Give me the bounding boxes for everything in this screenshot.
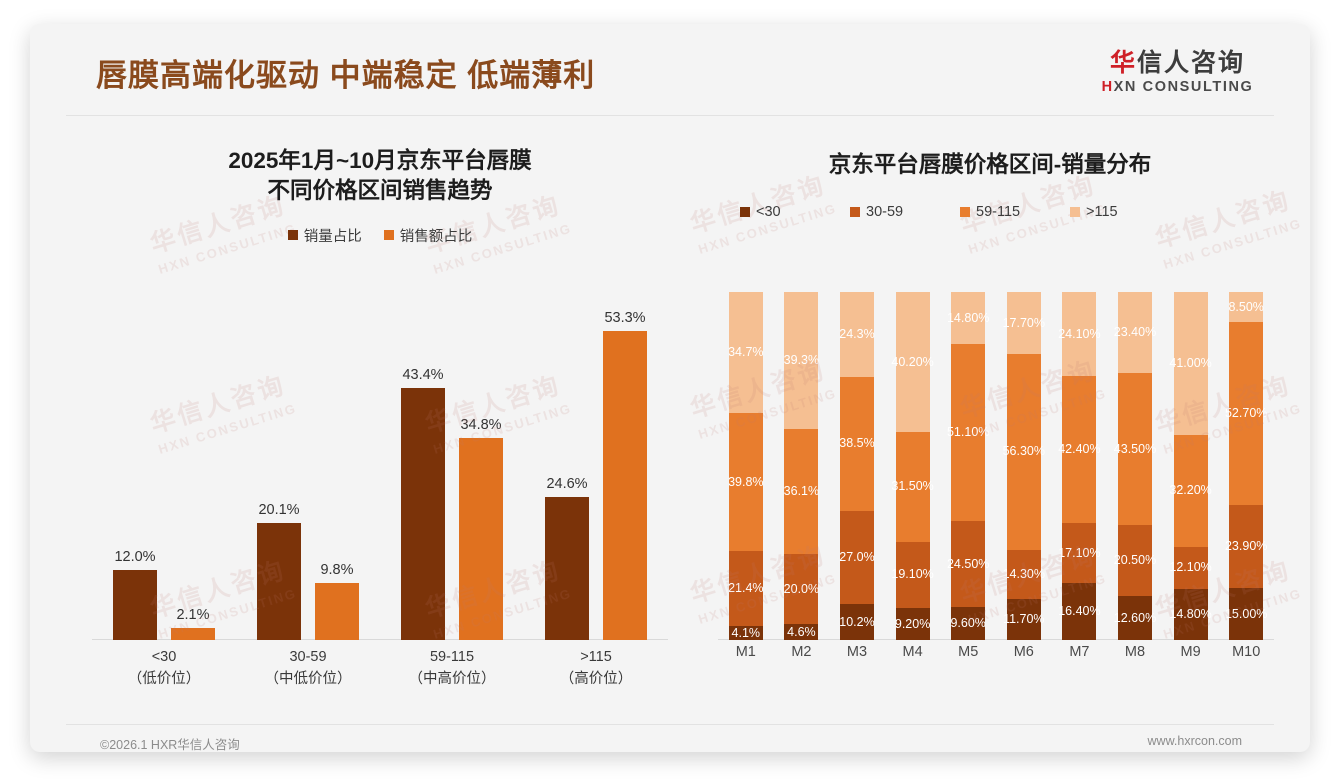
month-label-m6: M6 — [996, 644, 1052, 660]
segment-value-label: 38.5% — [839, 437, 874, 450]
bar-sales-amount[interactable]: 53.3% — [603, 331, 647, 640]
left-chart-plot-area: 12.0%2.1%20.1%9.8%43.4%34.8%24.6%53.3% — [92, 292, 668, 640]
stack-segment-30[interactable]: 14.80% — [1174, 589, 1208, 640]
stack-segment-59to115[interactable]: 52.70% — [1229, 322, 1263, 505]
stack-segment-30[interactable]: 10.2% — [840, 604, 874, 639]
bar-column[interactable]: 34.8% — [459, 438, 503, 640]
segment-value-label: 27.0% — [839, 551, 874, 564]
stack-segment-30to59[interactable]: 24.50% — [951, 521, 985, 606]
stack-segment-115[interactable]: 24.3% — [840, 292, 874, 377]
page-title: 唇膜高端化驱动 中端稳定 低端薄利 — [96, 50, 595, 95]
bar-sales-amount[interactable]: 34.8% — [459, 438, 503, 640]
category-range: >115 — [524, 646, 668, 668]
category-label-4: >115（高价位） — [524, 646, 668, 691]
segment-value-label: 14.80% — [947, 312, 989, 325]
left-chart-title-line2: 不同价格区间销售趋势 — [70, 176, 690, 206]
category-range: 59-115 — [380, 646, 524, 668]
stacked-bar-m8[interactable]: 23.40%43.50%20.50%12.60% — [1118, 292, 1152, 640]
segment-value-label: 39.8% — [728, 476, 763, 489]
stack-segment-30to59[interactable]: 14.30% — [1007, 550, 1041, 600]
bar-value-label: 20.1% — [258, 502, 299, 518]
segment-value-label: 39.3% — [784, 354, 819, 367]
month-label-m4: M4 — [885, 644, 941, 660]
month-label-m1: M1 — [718, 644, 774, 660]
category-range: 30-59 — [236, 646, 380, 668]
legend-item-2[interactable]: 销售额占比 — [384, 225, 473, 246]
left-chart-title: 2025年1月~10月京东平台唇膜 不同价格区间销售趋势 — [70, 146, 690, 207]
segment-value-label: 24.10% — [1058, 328, 1100, 341]
legend-item-1[interactable]: 销量占比 — [288, 225, 362, 246]
right-chart-legend: <3030-5959-115>115 — [700, 204, 1280, 220]
legend-label: <30 — [756, 204, 781, 220]
stack-segment-115[interactable]: 41.00% — [1174, 292, 1208, 435]
bar-group: 43.4%34.8% — [380, 292, 524, 640]
stacked-bar-m5[interactable]: 14.80%51.10%24.50%9.60% — [951, 292, 985, 640]
bar-column[interactable]: 20.1% — [257, 523, 301, 640]
logo-en-rest: XN CONSULTING — [1114, 79, 1254, 95]
stack-segment-59to115[interactable]: 51.10% — [951, 344, 985, 522]
segment-value-label: 12.10% — [1169, 561, 1211, 574]
segment-value-label: 31.50% — [891, 480, 933, 493]
category-sublabel: （低价位） — [92, 668, 236, 690]
stacked-bar-m7[interactable]: 24.10%42.40%17.10%16.40% — [1062, 292, 1096, 640]
month-label-m7: M7 — [1052, 644, 1108, 660]
segment-value-label: 42.40% — [1058, 443, 1100, 456]
logo-cn-red-char: 华 — [1110, 49, 1137, 77]
segment-value-label: 56.30% — [1003, 445, 1045, 458]
segment-value-label: 24.3% — [839, 328, 874, 341]
bar-value-label: 53.3% — [604, 310, 645, 326]
month-label-m9: M9 — [1163, 644, 1219, 660]
stack-segment-59to115[interactable]: 56.30% — [1007, 354, 1041, 550]
bar-group: 20.1%9.8% — [236, 292, 380, 640]
segment-value-label: 41.00% — [1169, 357, 1211, 370]
legend-swatch-icon — [1070, 207, 1080, 217]
segment-value-label: 52.70% — [1225, 407, 1267, 420]
left-chart-title-line1: 2025年1月~10月京东平台唇膜 — [70, 146, 690, 176]
stack-segment-59to115[interactable]: 39.8% — [729, 413, 763, 552]
legend-item-price-1[interactable]: <30 — [740, 204, 850, 220]
stack-segment-115[interactable]: 17.70% — [1007, 292, 1041, 354]
segment-value-label: 4.6% — [787, 626, 816, 639]
logo-english-text: HXN CONSULTING — [1085, 79, 1270, 95]
legend-swatch-icon — [288, 230, 298, 240]
bar-sales-volume[interactable]: 20.1% — [257, 523, 301, 640]
stack-segment-30to59[interactable]: 20.0% — [784, 554, 818, 624]
category-sublabel: （中低价位） — [236, 668, 380, 690]
stack-segment-30to59[interactable]: 17.10% — [1062, 523, 1096, 583]
legend-swatch-icon — [960, 207, 970, 217]
stack-segment-115[interactable]: 34.7% — [729, 292, 763, 413]
legend-label: 30-59 — [866, 204, 903, 220]
logo-cn-rest: 信人咨询 — [1137, 49, 1245, 77]
header-divider — [66, 115, 1274, 116]
bar-value-label: 24.6% — [546, 476, 587, 492]
bar-value-label: 2.1% — [176, 607, 209, 623]
segment-value-label: 19.10% — [891, 568, 933, 581]
segment-value-label: 40.20% — [891, 356, 933, 369]
legend-item-price-3[interactable]: 59-115 — [960, 204, 1070, 220]
stack-segment-30[interactable]: 12.60% — [1118, 596, 1152, 640]
segment-value-label: 24.50% — [947, 558, 989, 571]
right-chart-title-line1: 京东平台唇膜价格区间-销量分布 — [700, 150, 1280, 180]
category-sublabel: （中高价位） — [380, 668, 524, 690]
bar-column[interactable]: 53.3% — [603, 331, 647, 640]
legend-label: >115 — [1086, 204, 1118, 220]
legend-item-price-4[interactable]: >115 — [1070, 204, 1180, 220]
bar-sales-volume[interactable]: 24.6% — [545, 497, 589, 640]
stack-segment-30to59[interactable]: 20.50% — [1118, 525, 1152, 596]
legend-label: 销量占比 — [304, 225, 362, 246]
segment-value-label: 12.60% — [1114, 612, 1156, 625]
chart-panel-left: 2025年1月~10月京东平台唇膜 不同价格区间销售趋势 销量占比销售额占比 1… — [70, 124, 690, 714]
stack-segment-30[interactable]: 9.60% — [951, 607, 985, 640]
bar-sales-amount[interactable]: 2.1% — [171, 628, 215, 640]
stack-segment-115[interactable]: 23.40% — [1118, 292, 1152, 373]
stack-segment-59to115[interactable]: 43.50% — [1118, 373, 1152, 524]
bar-column[interactable]: 2.1% — [171, 628, 215, 640]
segment-value-label: 34.7% — [728, 346, 763, 359]
stack-segment-59to115[interactable]: 38.5% — [840, 377, 874, 511]
chart-panel-right: 京东平台唇膜价格区间-销量分布 <3030-5959-115>115 34.7%… — [700, 124, 1280, 714]
bar-value-label: 9.8% — [320, 562, 353, 578]
bar-column[interactable]: 9.8% — [315, 583, 359, 640]
bar-sales-volume[interactable]: 43.4% — [401, 388, 445, 640]
stack-segment-30[interactable]: 16.40% — [1062, 583, 1096, 640]
category-range: <30 — [92, 646, 236, 668]
bar-column[interactable]: 24.6% — [545, 497, 589, 640]
right-chart-plot-area: 34.7%39.8%21.4%4.1%39.3%36.1%20.0%4.6%24… — [718, 292, 1274, 640]
segment-value-label: 36.1% — [784, 485, 819, 498]
segment-value-label: 43.50% — [1114, 443, 1156, 456]
legend-label: 销售额占比 — [400, 225, 473, 246]
slide-canvas: 唇膜高端化驱动 中端稳定 低端薄利 华信人咨询 HXN CONSULTING 华… — [30, 24, 1310, 752]
bar-group: 24.6%53.3% — [524, 292, 668, 640]
stack-segment-59to115[interactable]: 31.50% — [896, 432, 930, 542]
stack-segment-30to59[interactable]: 21.4% — [729, 551, 763, 625]
month-label-m2: M2 — [774, 644, 830, 660]
footer-website: www.hxrcon.com — [1148, 734, 1242, 748]
left-chart-category-labels: <30（低价位）30-59（中低价位）59-115（中高价位）>115（高价位） — [92, 646, 668, 702]
stack-segment-30to59[interactable]: 27.0% — [840, 511, 874, 605]
stacked-bar-m10[interactable]: 8.50%52.70%23.90%15.00% — [1229, 292, 1263, 640]
month-label-m10: M10 — [1218, 644, 1274, 660]
bar-value-label: 43.4% — [402, 367, 443, 383]
segment-value-label: 10.2% — [839, 616, 874, 629]
right-chart-month-labels: M1M2M3M4M5M6M7M8M9M10 — [718, 644, 1274, 672]
stack-segment-59to115[interactable]: 32.20% — [1174, 435, 1208, 547]
segment-value-label: 11.70% — [1003, 613, 1044, 626]
bar-value-label: 34.8% — [460, 417, 501, 433]
stacked-bar-m3[interactable]: 24.3%38.5%27.0%10.2% — [840, 292, 874, 640]
segment-value-label: 23.90% — [1225, 540, 1267, 553]
stack-segment-30[interactable]: 15.00% — [1229, 588, 1263, 640]
segment-value-label: 32.20% — [1169, 484, 1211, 497]
segment-value-label: 8.50% — [1228, 301, 1263, 314]
legend-swatch-icon — [850, 207, 860, 217]
footer-copyright: ©2026.1 HXR华信人咨询 — [100, 734, 240, 752]
stack-segment-115[interactable]: 24.10% — [1062, 292, 1096, 376]
bar-sales-amount[interactable]: 9.8% — [315, 583, 359, 640]
logo-chinese-text: 华信人咨询 — [1085, 50, 1270, 76]
segment-value-label: 17.70% — [1003, 317, 1045, 330]
segment-value-label: 14.80% — [1169, 608, 1211, 621]
right-chart-title: 京东平台唇膜价格区间-销量分布 — [700, 150, 1280, 180]
segment-value-label: 9.20% — [895, 618, 930, 631]
stack-segment-115[interactable]: 14.80% — [951, 292, 985, 344]
stacked-bar-m4[interactable]: 40.20%31.50%19.10%9.20% — [896, 292, 930, 640]
segment-value-label: 21.4% — [728, 582, 763, 595]
segment-value-label: 14.30% — [1003, 568, 1045, 581]
legend-label: 59-115 — [976, 204, 1020, 220]
segment-value-label: 23.40% — [1114, 326, 1156, 339]
month-label-m8: M8 — [1107, 644, 1163, 660]
segment-value-label: 20.0% — [784, 583, 819, 596]
category-label-3: 59-115（中高价位） — [380, 646, 524, 691]
footer-divider — [66, 724, 1274, 725]
bar-group: 12.0%2.1% — [92, 292, 236, 640]
bar-value-label: 12.0% — [114, 549, 155, 565]
stack-segment-59to115[interactable]: 42.40% — [1062, 376, 1096, 524]
legend-item-price-2[interactable]: 30-59 — [850, 204, 960, 220]
stack-segment-115[interactable]: 39.3% — [784, 292, 818, 429]
stacked-bar-m9[interactable]: 41.00%32.20%12.10%14.80% — [1174, 292, 1208, 640]
stacked-bar-m2[interactable]: 39.3%36.1%20.0%4.6% — [784, 292, 818, 640]
segment-value-label: 4.1% — [732, 627, 761, 640]
segment-value-label: 9.60% — [950, 617, 985, 630]
legend-swatch-icon — [740, 207, 750, 217]
stack-segment-30to59[interactable]: 19.10% — [896, 542, 930, 608]
segment-value-label: 15.00% — [1225, 608, 1267, 621]
stack-segment-30to59[interactable]: 12.10% — [1174, 547, 1208, 589]
segment-value-label: 16.40% — [1058, 605, 1100, 618]
legend-swatch-icon — [384, 230, 394, 240]
left-chart-legend: 销量占比销售额占比 — [70, 225, 690, 246]
stack-segment-30to59[interactable]: 23.90% — [1229, 505, 1263, 588]
bar-sales-volume[interactable]: 12.0% — [113, 570, 157, 640]
month-label-m3: M3 — [829, 644, 885, 660]
stack-segment-59to115[interactable]: 36.1% — [784, 429, 818, 555]
segment-value-label: 17.10% — [1058, 547, 1100, 560]
stack-segment-30[interactable]: 9.20% — [896, 608, 930, 640]
month-label-m5: M5 — [940, 644, 996, 660]
bar-column[interactable]: 12.0% — [113, 570, 157, 640]
category-label-2: 30-59（中低价位） — [236, 646, 380, 691]
stack-segment-30[interactable]: 11.70% — [1007, 599, 1041, 640]
slide-header: 唇膜高端化驱动 中端稳定 低端薄利 华信人咨询 HXN CONSULTING — [30, 24, 1310, 118]
stacked-bar-m6[interactable]: 17.70%56.30%14.30%11.70% — [1007, 292, 1041, 640]
segment-value-label: 20.50% — [1114, 554, 1156, 567]
stack-segment-30[interactable]: 4.1% — [729, 626, 763, 640]
bar-column[interactable]: 43.4% — [401, 388, 445, 640]
stack-segment-115[interactable]: 8.50% — [1229, 292, 1263, 322]
company-logo: 华信人咨询 HXN CONSULTING — [1085, 50, 1270, 95]
logo-en-red-char: H — [1102, 79, 1114, 95]
stacked-bar-m1[interactable]: 34.7%39.8%21.4%4.1% — [729, 292, 763, 640]
stack-segment-30[interactable]: 4.6% — [784, 624, 818, 640]
stack-segment-115[interactable]: 40.20% — [896, 292, 930, 432]
category-label-1: <30（低价位） — [92, 646, 236, 691]
segment-value-label: 51.10% — [947, 426, 989, 439]
category-sublabel: （高价位） — [524, 668, 668, 690]
